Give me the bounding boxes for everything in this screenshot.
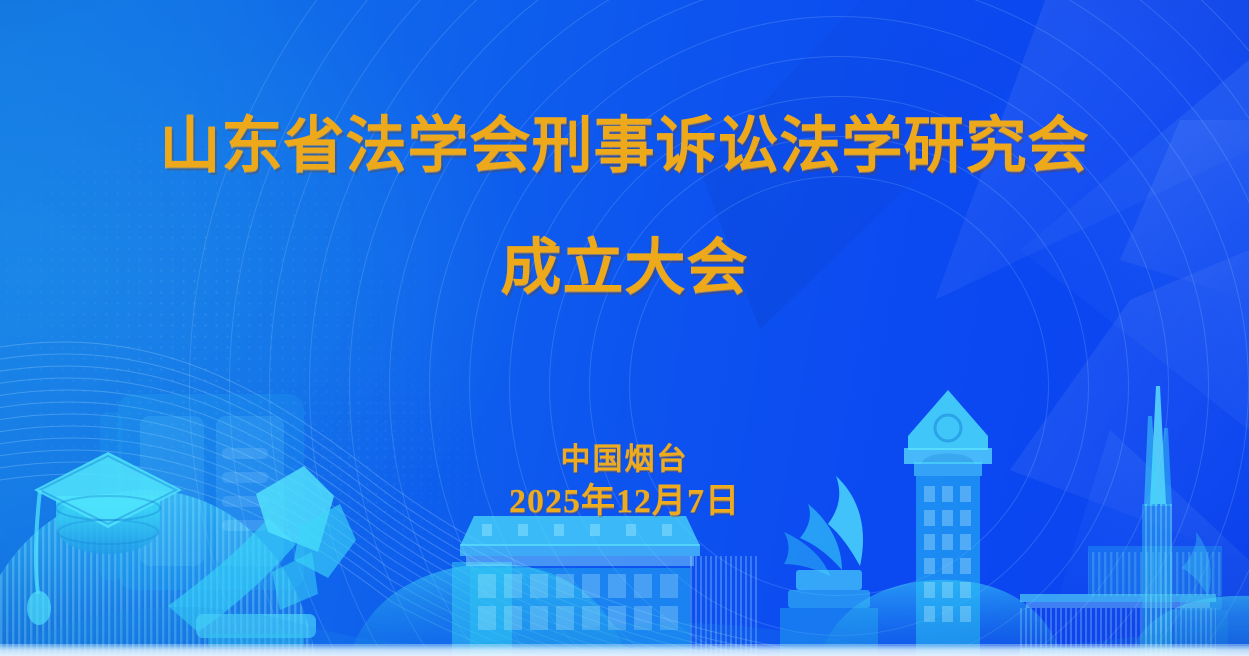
page-title: 山东省法学会刑事诉讼法学研究会 成立大会: [0, 110, 1249, 306]
event-location: 中国烟台: [0, 440, 1249, 480]
event-date: 2025年12月7日: [0, 480, 1249, 524]
subtitle: 中国烟台 2025年12月7日: [0, 440, 1249, 524]
event-backdrop-slide: 山东省法学会刑事诉讼法学研究会 成立大会 中国烟台 2025年12月7日: [0, 0, 1249, 656]
bottom-light-strip: [0, 646, 1249, 656]
title-line-1: 山东省法学会刑事诉讼法学研究会: [0, 110, 1249, 184]
vignette-overlay: [0, 0, 1249, 656]
title-line-2: 成立大会: [0, 232, 1249, 306]
